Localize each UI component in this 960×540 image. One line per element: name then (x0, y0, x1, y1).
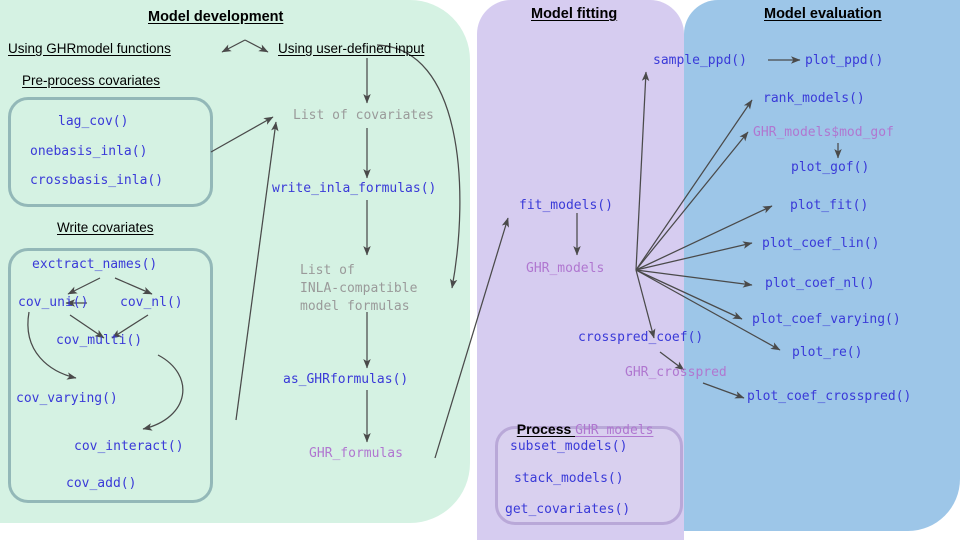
node-cov-varying[interactable]: cov_varying() (16, 392, 118, 406)
node-list-of-covariates: List of covariates (293, 109, 434, 123)
node-plot-fit[interactable]: plot_fit() (790, 199, 868, 213)
node-write-inla-formulas[interactable]: write_inla_formulas() (272, 182, 436, 196)
node-plot-coef-nl[interactable]: plot_coef_nl() (765, 277, 875, 291)
panel-model-evaluation (684, 0, 960, 531)
branch-label-using-user-defined-input: Using user-defined input (278, 42, 424, 56)
node-crosspred-coef[interactable]: crosspred_coef() (578, 331, 703, 345)
node-cov-nl[interactable]: cov_nl() (120, 296, 183, 310)
node-cov-add[interactable]: cov_add() (66, 477, 136, 491)
node-plot-gof[interactable]: plot_gof() (791, 161, 869, 175)
node-ghr-crosspred: GHR_crosspred (625, 366, 727, 380)
group-title-pre-process-covariates: Pre-process covariates (22, 74, 160, 88)
node-plot-coef-lin[interactable]: plot_coef_lin() (762, 237, 879, 251)
diagram-canvas: Model development Using GHRmodel functio… (0, 0, 960, 540)
node-ghr-models-mod-gof: GHR_models$mod_gof (753, 126, 894, 140)
node-rank-models[interactable]: rank_models() (763, 92, 865, 106)
node-subset-models[interactable]: subset_models() (510, 440, 627, 454)
node-list-of-inla-formulas-line3: model formulas (300, 300, 410, 314)
node-exctract-names[interactable]: exctract_names() (32, 258, 157, 272)
node-list-of-inla-formulas-line1: List of (300, 264, 355, 278)
node-cov-multi[interactable]: cov_multi() (56, 334, 142, 348)
panel-title-model-fitting: Model fitting (531, 7, 617, 22)
node-crossbasis-inla[interactable]: crossbasis_inla() (30, 174, 163, 188)
node-plot-coef-varying[interactable]: plot_coef_varying() (752, 313, 901, 327)
node-ghr-models: GHR_models (526, 262, 604, 276)
node-stack-models[interactable]: stack_models() (514, 472, 624, 486)
group-title-write-covariates: Write covariates (57, 221, 154, 235)
node-lag-cov[interactable]: lag_cov() (58, 115, 128, 129)
node-cov-uni[interactable]: cov_uni() (18, 296, 88, 310)
node-plot-re[interactable]: plot_re() (792, 346, 862, 360)
node-cov-interact[interactable]: cov_interact() (74, 440, 184, 454)
node-plot-ppd[interactable]: plot_ppd() (805, 54, 883, 68)
panel-title-model-evaluation: Model evaluation (764, 7, 882, 22)
node-onebasis-inla[interactable]: onebasis_inla() (30, 145, 147, 159)
panel-title-model-development: Model development (148, 10, 283, 25)
node-fit-models[interactable]: fit_models() (519, 199, 613, 213)
group-box-write-covariates (8, 248, 213, 503)
node-list-of-inla-formulas-line2: INLA-compatible (300, 282, 417, 296)
node-plot-coef-crosspred[interactable]: plot_coef_crosspred() (747, 390, 911, 404)
node-sample-ppd[interactable]: sample_ppd() (653, 54, 747, 68)
node-ghr-formulas: GHR_formulas (309, 447, 403, 461)
branch-label-using-ghrmodel-functions: Using GHRmodel functions (8, 42, 171, 56)
node-get-covariates[interactable]: get_covariates() (505, 503, 630, 517)
process-label-object: GHR_models (575, 423, 653, 438)
process-label-text: Process (517, 421, 575, 437)
node-as-ghrformulas[interactable]: as_GHRformulas() (283, 373, 408, 387)
